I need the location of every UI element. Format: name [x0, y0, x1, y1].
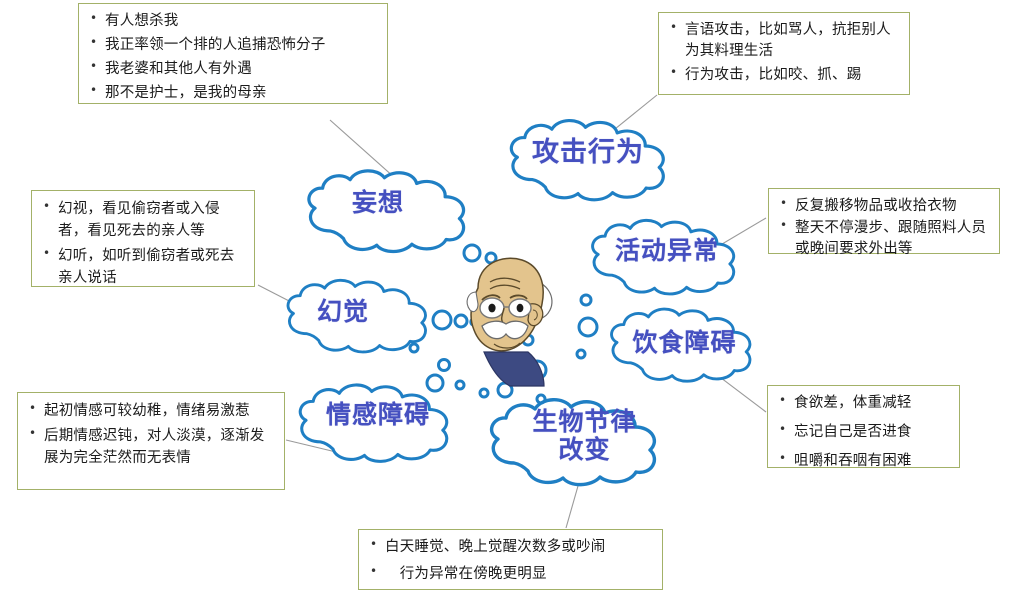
detail-list-item: 忘记自己是否进食 — [772, 422, 951, 443]
detail-list-item: 我老婆和其他人有外遇 — [83, 59, 379, 80]
detail-list-item: 幻听，如听到偷窃者或死去亲人说话 — [36, 245, 246, 289]
cloud-label-emotion: 情感障碍 — [303, 401, 453, 429]
detail-list-item: 反复搬移物品或收拾衣物 — [773, 196, 991, 217]
cloud-label-aggression: 攻击行为 — [513, 138, 663, 168]
detail-list-item: 行为攻击，比如咬、抓、踢 — [663, 65, 901, 86]
detail-list-emotion: 起初情感可较幼稚，情绪易激惹后期情感迟钝，对人淡漠，逐渐发展为完全茫然而无表情 — [22, 400, 276, 469]
mustache-shape — [482, 321, 528, 338]
detail-box-rhythm: 白天睡觉、晚上觉醒次数多或吵闹 行为异常在傍晚更明显 — [358, 529, 663, 590]
detail-box-eating: 食欲差，体重减轻忘记自己是否进食咀嚼和吞咽有困难 — [767, 385, 960, 468]
detail-list-eating: 食欲差，体重减轻忘记自己是否进食咀嚼和吞咽有困难 — [772, 393, 951, 472]
detail-list-item: 后期情感迟钝，对人淡漠，逐渐发展为完全茫然而无表情 — [22, 425, 276, 469]
diagram-canvas: 妄想 攻击行为 活动异常 饮食障碍 情感障碍 生物节律 改变 幻觉 有人想杀我我… — [0, 0, 1029, 593]
detail-list-item: 整天不停漫步、跟随照料人员或晚间要求外出等 — [773, 218, 991, 260]
detail-box-delusion: 有人想杀我我正率领一个排的人追捕恐怖分子我老婆和其他人有外遇那不是护士，是我的母… — [78, 3, 388, 104]
elderly-man-illustration — [432, 248, 582, 388]
detail-box-hallucination: 幻视，看见偷窃者或入侵者，看见死去的亲人等幻听，如听到偷窃者或死去亲人说话 — [31, 190, 255, 287]
connector-eating — [700, 362, 766, 412]
detail-list-hallucination: 幻视，看见偷窃者或入侵者，看见死去的亲人等幻听，如听到偷窃者或死去亲人说话 — [36, 198, 246, 289]
detail-box-aggression: 言语攻击，比如骂人，抗拒别人为其料理生活行为攻击，比如咬、抓、踢 — [658, 12, 910, 95]
detail-list-item: 白天睡觉、晚上觉醒次数多或吵闹 — [363, 537, 654, 558]
detail-list-item: 行为异常在傍晚更明显 — [363, 564, 654, 585]
detail-box-emotion: 起初情感可较幼稚，情绪易激惹后期情感迟钝，对人淡漠，逐渐发展为完全茫然而无表情 — [17, 392, 285, 490]
detail-list-delusion: 有人想杀我我正率领一个排的人追捕恐怖分子我老婆和其他人有外遇那不是护士，是我的母… — [83, 11, 379, 105]
detail-list-activity: 反复搬移物品或收拾衣物整天不停漫步、跟随照料人员或晚间要求外出等 — [773, 196, 991, 260]
detail-list-item: 幻视，看见偷窃者或入侵者，看见死去的亲人等 — [36, 198, 246, 242]
cloud-label-hallucination: 幻觉 — [288, 298, 398, 326]
detail-list-item: 言语攻击，比如骂人，抗拒别人为其料理生活 — [663, 20, 901, 62]
detail-list-item: 食欲差，体重减轻 — [772, 393, 951, 414]
detail-list-aggression: 言语攻击，比如骂人，抗拒别人为其料理生活行为攻击，比如咬、抓、踢 — [663, 20, 901, 86]
connector-rhythm — [566, 486, 578, 528]
detail-list-item: 我正率领一个排的人追捕恐怖分子 — [83, 35, 379, 56]
connector-delusion — [330, 120, 404, 186]
collar-shape — [484, 352, 544, 386]
detail-list-item: 那不是护士，是我的母亲 — [83, 83, 379, 104]
cloud-label-delusion: 妄想 — [318, 189, 438, 217]
detail-box-activity: 反复搬移物品或收拾衣物整天不停漫步、跟随照料人员或晚间要求外出等 — [768, 188, 1000, 254]
detail-list-item: 起初情感可较幼稚，情绪易激惹 — [22, 400, 276, 422]
cloud-label-rhythm: 生物节律 改变 — [492, 408, 677, 464]
hair-left — [467, 292, 478, 312]
cloud-label-eating: 饮食障碍 — [612, 329, 757, 357]
connector-emotion — [286, 440, 336, 452]
cloud-label-activity: 活动异常 — [593, 237, 741, 265]
detail-list-item: 咀嚼和吞咽有困难 — [772, 451, 951, 472]
detail-list-rhythm: 白天睡觉、晚上觉醒次数多或吵闹 行为异常在傍晚更明显 — [363, 537, 654, 585]
detail-list-item: 有人想杀我 — [83, 11, 379, 32]
